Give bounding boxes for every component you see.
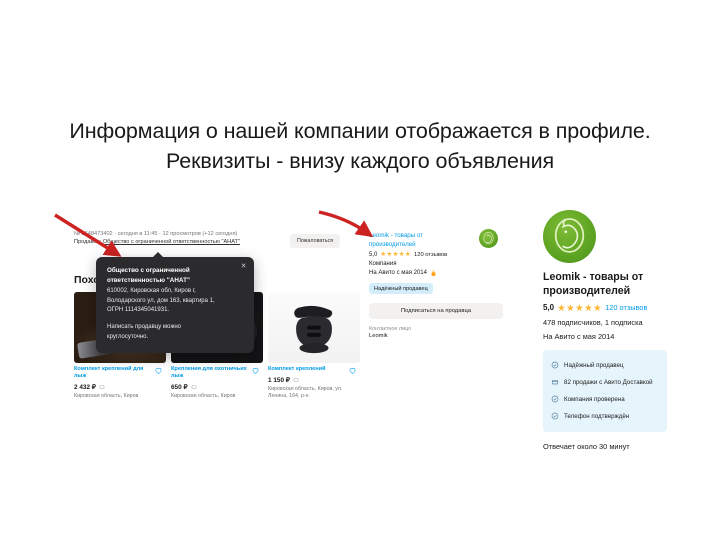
profile-rating-value: 5,0 <box>543 303 554 312</box>
product-title[interactable]: Комплект креплений для лыж <box>74 366 150 381</box>
feature-label: 82 продажи с Авито Доставкой <box>564 379 653 386</box>
seller-prefix-label: Продавец: <box>74 239 103 245</box>
favorite-heart-icon[interactable] <box>154 366 163 375</box>
seller-company-link[interactable]: Общество с ограниченной ответственностью… <box>103 239 240 245</box>
feature-row: Надёжный продавец <box>543 357 667 374</box>
contact-person-label: Контактное лицо <box>369 326 505 332</box>
ski-binding-photo <box>286 300 342 358</box>
medal-icon <box>430 270 437 277</box>
tooltip-company-address: 610002, Кировская обл, Киров г, Володарс… <box>107 287 227 315</box>
trusted-seller-badge: Надёжный продавец <box>369 283 433 294</box>
delivery-badge-icon <box>293 377 299 383</box>
profile-rating-row: 5,0 ★★★★★ 120 отзывов <box>543 303 667 312</box>
leomik-logo-icon <box>543 210 596 263</box>
seller-since-row: На Авито с мая 2014 <box>369 270 505 277</box>
profile-since: На Авито с мая 2014 <box>543 332 667 341</box>
profile-reviews-link[interactable]: 120 отзывов <box>605 303 647 312</box>
product-location: Кировская область, Киров <box>171 393 261 400</box>
favorite-heart-icon[interactable] <box>348 366 357 375</box>
star-rating-icon: ★★★★★ <box>557 303 602 312</box>
star-rating-icon: ★★★★★ <box>380 252 411 258</box>
embedded-screenshot: № 2648473402 · сегодня в 11:45 · 12 прос… <box>0 196 720 432</box>
profile-feature-panel: Надёжный продавец 82 продажи с Авито Дос… <box>543 350 667 432</box>
feature-label: Надёжный продавец <box>564 362 624 369</box>
feature-row: Компания проверена <box>543 391 667 408</box>
close-icon[interactable]: ✕ <box>240 263 247 270</box>
delivery-box-icon <box>551 378 559 386</box>
seller-avatar-small[interactable] <box>479 229 498 248</box>
seller-info-block: Leomik - товары от производителей 5,0 ★★… <box>369 232 505 339</box>
seller-profile-link[interactable]: Leomik - товары от производителей <box>369 232 449 249</box>
seller-rating-row: 5,0 ★★★★★ 120 отзывов <box>369 252 505 258</box>
product-price: 2 432 ₽ <box>74 383 96 391</box>
avito-wordmark: Avito <box>642 506 690 527</box>
contact-person-name: Leomik <box>369 333 505 339</box>
subscribe-to-seller-button[interactable]: Подписаться на продавца <box>369 303 503 319</box>
feature-row: Телефон подтверждён <box>543 408 667 425</box>
seller-type-label: Компания <box>369 261 396 267</box>
product-price: 650 ₽ <box>171 383 188 391</box>
leomik-logo-icon <box>479 229 498 248</box>
complain-button[interactable]: Пожаловаться <box>290 234 340 248</box>
product-image[interactable] <box>268 292 360 363</box>
tooltip-company-name: Общество с ограниченной ответственностью… <box>107 266 219 285</box>
product-price-row: 650 ₽ <box>171 383 263 391</box>
check-circle-icon <box>551 361 559 369</box>
seller-type: Компания <box>369 261 505 267</box>
seller-rating-value: 5,0 <box>369 252 377 258</box>
check-circle-icon <box>551 395 559 403</box>
avito-watermark: Avito <box>614 498 706 528</box>
seller-profile-card: Leomik - товары от производителей 5,0 ★★… <box>543 210 667 451</box>
page-title: Информация о нашей компании отображается… <box>34 116 686 176</box>
favorite-heart-icon[interactable] <box>251 366 260 375</box>
product-location: Кировская область, Киров, ул. Ленина, 16… <box>268 386 358 400</box>
profile-name: Leomik - товары от производителей <box>543 271 663 298</box>
avatar[interactable] <box>543 210 596 263</box>
seller-since-label: На Авито с мая 2014 <box>369 270 427 276</box>
product-price: 1 150 ₽ <box>268 376 290 384</box>
product-price-row: 1 150 ₽ <box>268 376 360 384</box>
product-location: Кировская область, Киров <box>74 393 164 400</box>
feature-label: Компания проверена <box>564 396 625 403</box>
product-title[interactable]: Крепления для охотничьих лыж <box>171 366 247 381</box>
profile-subscribers: 478 подписчиков, 1 подписка <box>543 318 667 327</box>
feature-row: 82 продажи с Авито Доставкой <box>543 374 667 391</box>
seller-reviews-link[interactable]: 120 отзывов <box>414 252 447 258</box>
feature-label: Телефон подтверждён <box>564 413 629 420</box>
product-card[interactable]: Комплект креплений 1 150 ₽ Кировская обл… <box>268 292 360 400</box>
product-price-row: 2 432 ₽ <box>74 383 166 391</box>
delivery-badge-icon <box>191 384 197 390</box>
check-circle-icon <box>551 412 559 420</box>
delivery-badge-icon <box>99 384 105 390</box>
reply-time-label: Отвечает около 30 минут <box>543 442 667 451</box>
product-title[interactable]: Комплект креплений <box>268 366 344 373</box>
company-details-tooltip: ✕ Общество с ограниченной ответственност… <box>96 257 254 353</box>
tooltip-note: Написать продавцу можно круглосуточно. <box>107 323 217 342</box>
